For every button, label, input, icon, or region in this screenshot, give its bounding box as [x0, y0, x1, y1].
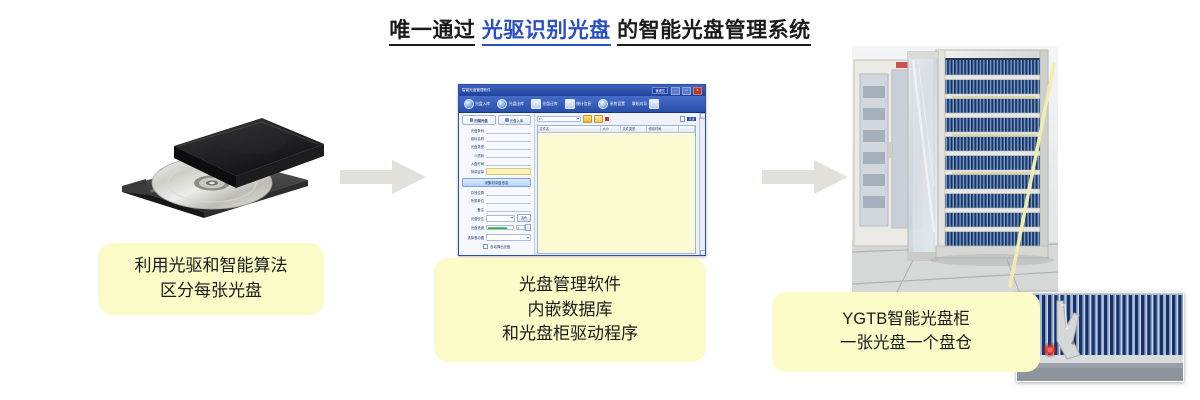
title-part-2: 的智能光盘管理系统: [617, 19, 811, 46]
chevron-down-icon: [577, 118, 579, 120]
disc-in-icon: [464, 99, 474, 109]
toolbar-label: 系统设置: [610, 102, 625, 107]
title-part-1: 唯一通过: [389, 19, 475, 46]
progress-row: 光盘进度 0: [462, 224, 531, 231]
stats-icon: [565, 99, 575, 109]
title-accent: 光驱识别光盘: [482, 19, 611, 46]
page-title: 唯一通过 光驱识别光盘 的智能光盘管理系统: [0, 14, 1200, 44]
disc-in-small-icon: [505, 118, 509, 122]
readonly-toggle[interactable]: 只读: [680, 116, 696, 122]
media-code-input[interactable]: [486, 152, 531, 158]
open-folder-icon[interactable]: [594, 115, 603, 123]
titlebar-user-tag: 管理员: [652, 87, 668, 94]
barcode-input[interactable]: [486, 128, 531, 134]
column-header-size: 大小: [601, 126, 621, 133]
field-row: 入盘时间: [462, 160, 531, 166]
department-input[interactable]: [486, 198, 531, 204]
field-label: 光盘类型: [462, 144, 484, 149]
toolbar-disc-out[interactable]: 光盘出库: [495, 98, 527, 110]
scroll-up-icon[interactable]: [700, 113, 706, 119]
field-label: 选择驱动器: [462, 235, 484, 240]
field-label: 所属单位: [462, 198, 484, 203]
field-label: 存放位置: [462, 190, 484, 195]
column-header-extra: [679, 126, 695, 133]
gear-icon: [598, 99, 608, 109]
field-label: 光盘仓位: [462, 216, 484, 221]
callout-right: YGTB智能光盘柜 一张光盘一个盘仓: [772, 292, 1040, 372]
field-row: 介质码: [462, 152, 531, 158]
disc-cabinet-photo: [852, 46, 1058, 294]
disc-return-icon: [531, 99, 541, 109]
column-header-filetype: 文件类型: [621, 126, 647, 133]
field-row: 所属单位: [462, 198, 531, 204]
maximize-icon[interactable]: □: [682, 87, 691, 95]
window-title: 智能光盘管理软件: [462, 88, 649, 93]
auto-eject-row[interactable]: 自动弹出光盘: [462, 244, 531, 250]
field-row: 光盘类型: [462, 144, 531, 150]
disc-type-input[interactable]: [486, 144, 531, 150]
auto-eject-label: 自动弹出光盘: [490, 244, 510, 249]
disc-form-panel: 扫描光盘 光盘入库 光盘条码 卷标名称 光盘类型: [459, 113, 535, 256]
drive-select[interactable]: [486, 234, 531, 241]
callout-middle: 光盘管理软件 内嵌数据库 和光盘柜驱动程序: [434, 258, 706, 362]
arrow-right-2: [762, 160, 848, 194]
column-header-filename: 文件名: [538, 126, 601, 133]
remark-input[interactable]: [486, 206, 531, 212]
field-label: 光盘进度: [462, 225, 484, 230]
path-value: F:\: [539, 117, 543, 121]
field-label: 卷标名称: [462, 136, 484, 141]
gripper-detail-photo: [1016, 292, 1184, 382]
field-row: 备注: [462, 206, 531, 212]
field-row: 光盘条码: [462, 128, 531, 134]
path-toolbar: F:\ 只读: [537, 115, 696, 123]
burn-capacity-input[interactable]: [486, 168, 531, 175]
tab-label: 扫描光盘: [474, 118, 488, 123]
wizard-icon: [649, 99, 659, 109]
tab-label: 光盘入库: [510, 118, 524, 123]
collect-disc-info-button[interactable]: 采集刻录盘信息: [462, 178, 531, 187]
toolbar-disc-in[interactable]: 光盘入库: [461, 98, 493, 110]
window-titlebar: 智能光盘管理软件 管理员 – □ ✕: [459, 85, 705, 96]
field-label: 入盘时间: [462, 161, 484, 166]
arrow-right-1: [340, 160, 426, 194]
disc-progress-bar: [486, 225, 514, 230]
stop-icon[interactable]: [605, 117, 609, 121]
readonly-label: 只读: [687, 117, 696, 121]
field-row: 卷标名称: [462, 136, 531, 142]
column-header-modified: 修改时间: [647, 126, 679, 133]
panel-tabs: 扫描光盘 光盘入库: [462, 115, 531, 125]
count-value: 0: [516, 225, 525, 230]
minimize-icon[interactable]: –: [671, 87, 680, 95]
toolbar-label: 联机向导: [632, 102, 647, 107]
window-controls[interactable]: – □ ✕: [671, 87, 702, 95]
checkbox-icon[interactable]: [680, 116, 686, 122]
toolbar-stats[interactable]: 统计信息: [562, 98, 594, 110]
toolbar-label: 统计信息: [576, 102, 591, 107]
tab-scan-disc[interactable]: 扫描光盘: [462, 115, 496, 125]
new-folder-icon[interactable]: [583, 115, 592, 123]
slot-select-row: 光盘仓位 选仓: [462, 214, 531, 222]
storage-location-input[interactable]: [486, 190, 531, 196]
main-toolbar: 光盘入库 光盘出库 光盘还库 统计信息 系统设置 联机向导: [459, 96, 705, 113]
toolbar-disc-return[interactable]: 光盘还库: [528, 98, 560, 110]
choose-slot-button[interactable]: 选仓: [517, 214, 531, 222]
path-select[interactable]: F:\: [537, 116, 581, 122]
file-list-body[interactable]: [538, 133, 695, 253]
chevron-down-icon: [527, 237, 529, 239]
disc-out-icon: [497, 99, 507, 109]
stepper-arrows-icon[interactable]: [525, 224, 531, 231]
field-label: 光盘条码: [462, 128, 484, 133]
slide-canvas: 唯一通过 光驱识别光盘 的智能光盘管理系统: [0, 0, 1200, 400]
external-optical-drive-photo: [112, 100, 334, 222]
file-browser-panel: F:\ 只读 文件名 大小 文件类型: [535, 113, 699, 256]
checkbox-icon[interactable]: [483, 244, 489, 250]
vertical-scrollbar[interactable]: [699, 113, 705, 256]
file-list[interactable]: 文件名 大小 文件类型 修改时间: [537, 125, 696, 255]
window-body: 扫描光盘 光盘入库 光盘条码 卷标名称 光盘类型: [459, 113, 705, 256]
count-stepper[interactable]: 0: [516, 224, 532, 231]
callout-left: 利用光驱和智能算法 区分每张光盘: [98, 243, 324, 315]
insert-time-input[interactable]: [486, 160, 531, 166]
volume-label-input[interactable]: [486, 136, 531, 142]
file-list-header: 文件名 大小 文件类型 修改时间: [538, 126, 695, 134]
toolbar-settings[interactable]: 系统设置: [596, 98, 628, 110]
slot-select[interactable]: [486, 215, 515, 222]
tab-disc-in[interactable]: 光盘入库: [498, 115, 532, 125]
toolbar-label: 光盘入库: [475, 102, 490, 107]
field-label: 刻录容量: [462, 169, 484, 174]
scan-icon: [470, 118, 474, 122]
field-row: 刻录容量: [462, 168, 531, 175]
toolbar-label: 光盘出库: [509, 102, 524, 107]
close-icon[interactable]: ✕: [693, 87, 702, 95]
disc-management-software-window: 智能光盘管理软件 管理员 – □ ✕ 光盘入库 光盘出库 光盘还库: [458, 84, 706, 256]
toolbar-wizard[interactable]: 联机向导: [629, 98, 661, 110]
field-row: 存放位置: [462, 190, 531, 196]
chevron-down-icon: [511, 217, 513, 219]
field-label: 备注: [462, 207, 484, 212]
driver-select-row: 选择驱动器: [462, 234, 531, 241]
toolbar-label: 光盘还库: [542, 102, 557, 107]
field-label: 介质码: [462, 153, 484, 158]
